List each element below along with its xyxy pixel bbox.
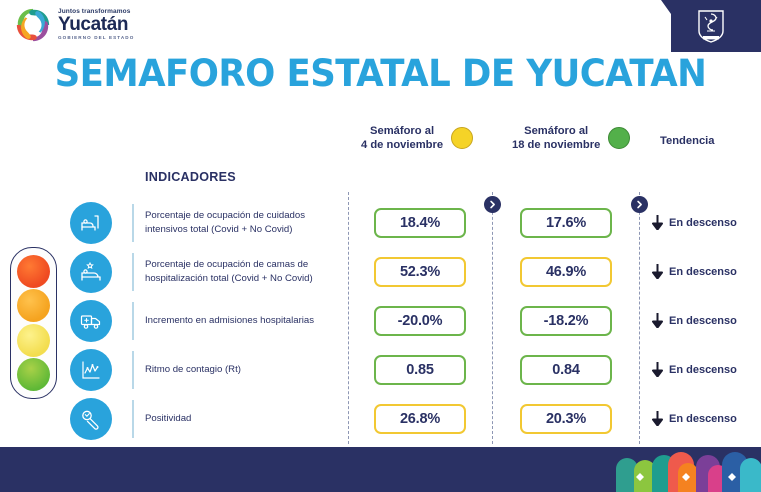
- row-separator: [132, 351, 134, 389]
- value-nov18: 17.6%: [520, 208, 612, 238]
- status-dot-green-icon: [608, 127, 630, 149]
- row-separator: [132, 204, 134, 242]
- page-title: SEMÁFORO ESTATAL DE YUCATÁN: [15, 52, 746, 95]
- column-header-nov4: Semáforo al 4 de noviembre: [361, 124, 473, 152]
- swab-test-glyph-icon: [79, 407, 103, 431]
- footer-bar: [0, 447, 761, 492]
- decorative-shapes: [616, 447, 761, 492]
- chevron-right-icon: [635, 200, 644, 209]
- col1-line2: 4 de noviembre: [361, 138, 443, 152]
- column-headers: Semáforo al 4 de noviembre Semáforo al 1…: [345, 124, 755, 166]
- logo-subtitle: GOBIERNO DEL ESTADO: [58, 36, 134, 41]
- yucatan-coat-of-arms-icon: [696, 9, 726, 43]
- hospital-bed-glyph-icon: [79, 260, 103, 284]
- trend-cell: En descenso: [652, 264, 737, 279]
- table-row: Incremento en admisiones hospitalarias -…: [0, 296, 761, 345]
- chevron-node-middle: [484, 196, 501, 213]
- status-dot-yellow-icon: [451, 127, 473, 149]
- value-nov18: 46.9%: [520, 257, 612, 287]
- trend-cell: En descenso: [652, 362, 737, 377]
- contagion-chart-icon: [70, 349, 112, 391]
- value-nov4: 26.8%: [374, 404, 466, 434]
- trend-label: En descenso: [669, 364, 737, 376]
- trend-label: En descenso: [669, 413, 737, 425]
- top-bar: Juntos transformamos Yucatán GOBIERNO DE…: [0, 0, 761, 56]
- indicadores-label: INDICADORES: [145, 170, 236, 184]
- arrow-down-icon: [652, 313, 663, 328]
- col2-line2: 18 de noviembre: [512, 138, 600, 152]
- column-header-tendencia: Tendencia: [660, 134, 715, 148]
- row-separator: [132, 253, 134, 291]
- indicator-table: Porcentaje de ocupación de cuidados inte…: [0, 198, 761, 443]
- col1-line1: Semáforo al: [361, 124, 443, 138]
- value-nov4: 18.4%: [374, 208, 466, 238]
- col2-line1: Semáforo al: [512, 124, 600, 138]
- trend-cell: En descenso: [652, 411, 737, 426]
- value-nov4: 0.85: [374, 355, 466, 385]
- value-nov18: 0.84: [520, 355, 612, 385]
- ambulance-glyph-icon: [79, 309, 103, 333]
- column-header-nov18: Semáforo al 18 de noviembre: [512, 124, 630, 152]
- row-separator: [132, 302, 134, 340]
- swab-test-icon: [70, 398, 112, 440]
- trend-cell: En descenso: [652, 215, 737, 230]
- indicator-description: Positividad: [145, 412, 343, 425]
- contagion-chart-glyph-icon: [79, 358, 103, 382]
- trend-cell: En descenso: [652, 313, 737, 328]
- table-row: Ritmo de contagio (Rt) 0.85 0.84 En desc…: [0, 345, 761, 394]
- tendencia-label: Tendencia: [660, 134, 715, 148]
- value-nov18: 20.3%: [520, 404, 612, 434]
- indicator-description: Incremento en admisiones hospitalarias: [145, 314, 343, 327]
- indicator-description: Porcentaje de ocupación de cuidados inte…: [145, 209, 343, 235]
- logo-name: Yucatán: [58, 16, 134, 34]
- indicator-description: Ritmo de contagio (Rt): [145, 363, 343, 376]
- value-nov4: 52.3%: [374, 257, 466, 287]
- icu-bed-icon: [70, 202, 112, 244]
- arrow-down-icon: [652, 362, 663, 377]
- table-row: Porcentaje de ocupación de camas de hosp…: [0, 247, 761, 296]
- arrow-down-icon: [652, 264, 663, 279]
- arrow-down-icon: [652, 215, 663, 230]
- chevron-right-icon: [488, 200, 497, 209]
- indicator-description: Porcentaje de ocupación de camas de hosp…: [145, 258, 343, 284]
- table-row: Positividad 26.8% 20.3% En descenso: [0, 394, 761, 443]
- value-nov4: -20.0%: [374, 306, 466, 336]
- ambulance-icon: [70, 300, 112, 342]
- trend-label: En descenso: [669, 315, 737, 327]
- trend-label: En descenso: [669, 217, 737, 229]
- icu-bed-glyph-icon: [79, 211, 103, 235]
- yucatan-swirl-logo-icon: [14, 6, 52, 44]
- government-logo: Juntos transformamos Yucatán GOBIERNO DE…: [14, 6, 134, 44]
- arrow-down-icon: [652, 411, 663, 426]
- chevron-node-right: [631, 196, 648, 213]
- crest-banner: [661, 0, 761, 52]
- row-separator: [132, 400, 134, 438]
- hospital-bed-icon: [70, 251, 112, 293]
- trend-label: En descenso: [669, 266, 737, 278]
- value-nov18: -18.2%: [520, 306, 612, 336]
